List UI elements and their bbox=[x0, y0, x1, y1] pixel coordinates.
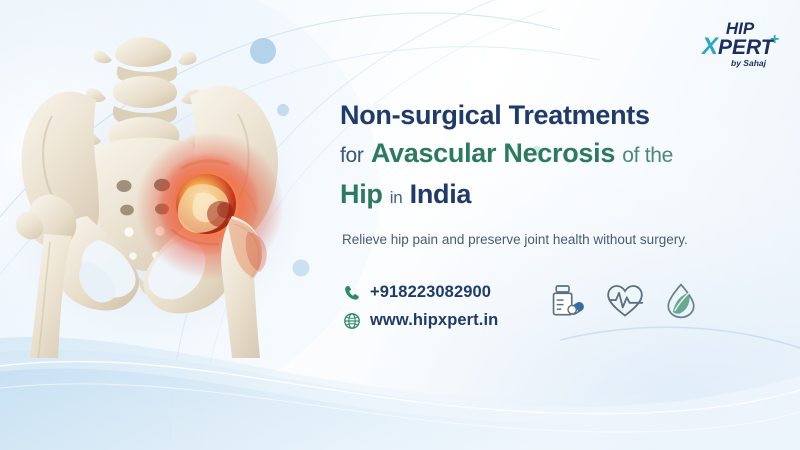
promo-banner: HIP X PERT + by Sahaj Non-surgical Treat… bbox=[0, 0, 800, 450]
logo-x-text: X bbox=[700, 33, 720, 60]
website-url: www.hipxpert.in bbox=[370, 311, 498, 330]
logo-tagline-text: by Sahaj bbox=[731, 58, 767, 68]
headline-line-2: for Avascular Necrosis of the bbox=[340, 134, 770, 175]
pelvis-hip-anatomy-illustration bbox=[0, 18, 322, 358]
hipxpert-logo-mark: HIP X PERT + by Sahaj bbox=[682, 14, 786, 72]
headline-block: Non-surgical Treatments for Avascular Ne… bbox=[340, 96, 770, 247]
logo-pert-text: PERT bbox=[718, 36, 776, 59]
headline-condition: Avascular Necrosis bbox=[371, 138, 615, 168]
water-drop-leaf-icon bbox=[660, 280, 702, 322]
feature-icons-group bbox=[548, 280, 702, 322]
logo-plus-text: + bbox=[770, 31, 779, 48]
medicine-bottle-pills-icon bbox=[548, 280, 590, 322]
headline-in-word: in bbox=[390, 188, 403, 207]
heart-pulse-icon bbox=[604, 280, 646, 322]
subheadline: Relieve hip pain and preserve joint heal… bbox=[342, 232, 770, 247]
contact-block: +918223082900 www.hipxpert.in bbox=[342, 283, 552, 339]
contact-phone-row[interactable]: +918223082900 bbox=[342, 283, 552, 302]
headline-line-3: Hip in India bbox=[340, 175, 770, 217]
phone-icon bbox=[342, 283, 361, 302]
headline-india-word: India bbox=[410, 179, 472, 209]
headline-for-word: for bbox=[340, 144, 364, 167]
globe-icon bbox=[342, 311, 361, 330]
contact-website-row[interactable]: www.hipxpert.in bbox=[342, 311, 552, 330]
brand-logo[interactable]: HIP X PERT + by Sahaj bbox=[682, 14, 786, 72]
phone-number: +918223082900 bbox=[370, 283, 491, 302]
headline-hip-word: Hip bbox=[340, 179, 383, 209]
headline-of-the-words: of the bbox=[622, 144, 673, 167]
headline-line-1: Non-surgical Treatments bbox=[340, 96, 770, 134]
